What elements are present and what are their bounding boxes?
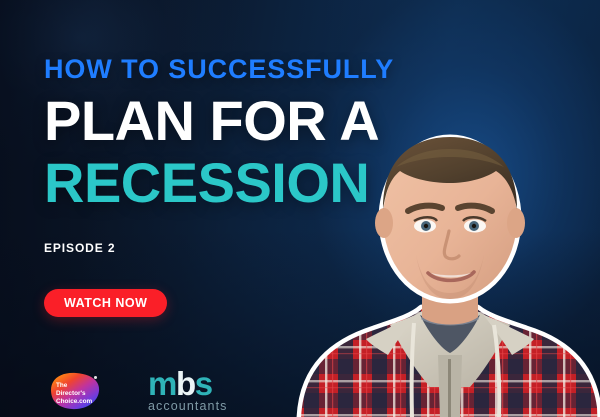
directors-choice-logo[interactable]: The Director's Choice.com <box>42 369 104 413</box>
dc-line1: The <box>56 382 68 389</box>
mbs-letter-s: s <box>195 365 212 402</box>
headline-block: HOW TO SUCCESSFULLY PLAN FOR A RECESSION… <box>44 56 444 255</box>
eyebrow-text: HOW TO SUCCESSFULLY <box>44 56 444 83</box>
logo-row: The Director's Choice.com mbs accountant… <box>42 369 228 413</box>
mbs-accountants-logo[interactable]: mbs accountants <box>148 369 228 413</box>
episode-label: EPISODE 2 <box>44 241 444 255</box>
watch-now-button[interactable]: WATCH NOW <box>44 289 167 317</box>
headline-accent-text: RECESSION <box>44 155 444 211</box>
dc-line3: Choice.com <box>56 398 93 405</box>
mbs-letter-m: m <box>148 365 176 402</box>
mbs-subtitle: accountants <box>148 400 228 413</box>
mbs-letter-b: b <box>176 365 195 402</box>
headline-text: PLAN FOR A <box>44 93 444 149</box>
video-thumbnail: HOW TO SUCCESSFULLY PLAN FOR A RECESSION… <box>0 0 600 417</box>
mbs-wordmark: mbs <box>148 369 228 399</box>
dc-line2: Director's <box>56 390 86 397</box>
